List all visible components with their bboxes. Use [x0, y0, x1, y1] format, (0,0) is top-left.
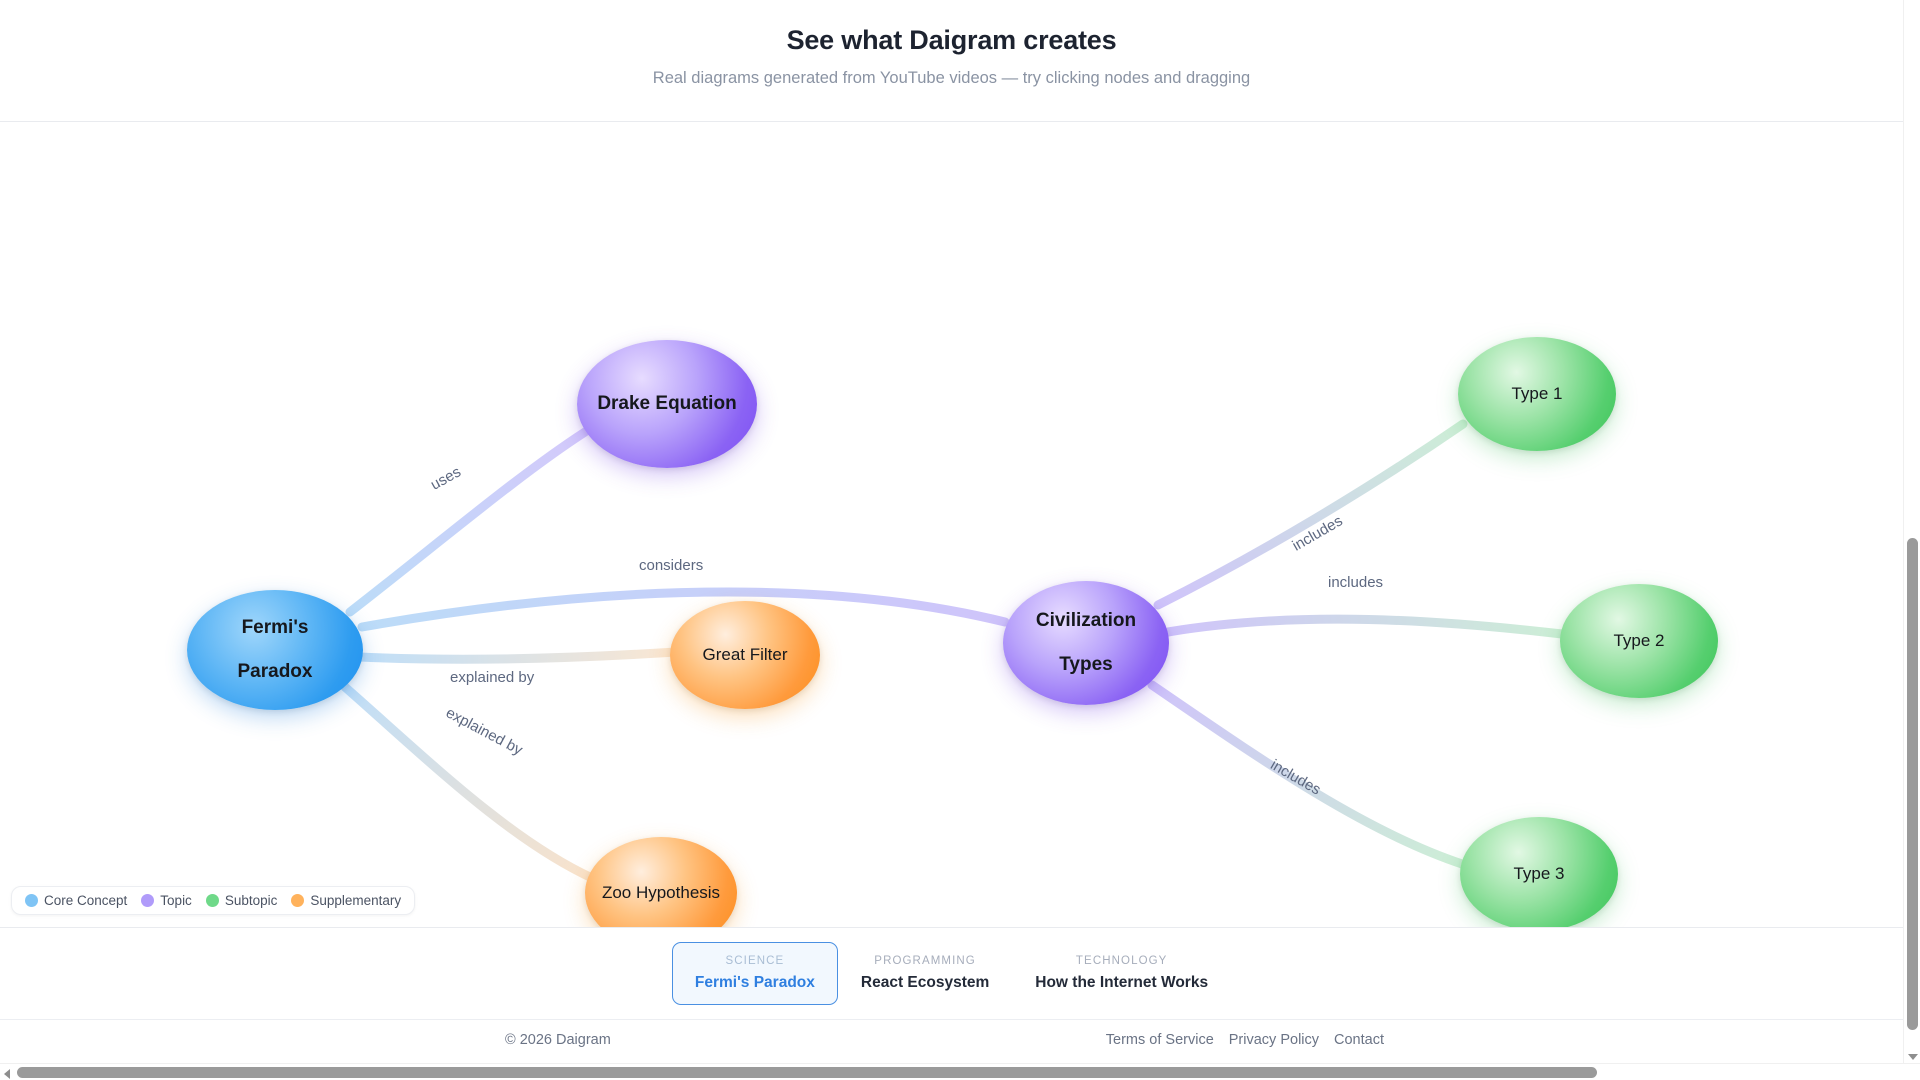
vertical-scrollbar-thumb[interactable] — [1907, 538, 1918, 1030]
page-title: See what Daigram creates — [0, 0, 1903, 56]
legend-label: Core Concept — [44, 893, 127, 908]
page-subtitle: Real diagrams generated from YouTube vid… — [0, 56, 1903, 88]
legend-dot-icon — [291, 894, 304, 907]
tab-title: Fermi's Paradox — [695, 974, 815, 992]
edge-explained-by-zoo — [345, 687, 592, 878]
tab-category: TECHNOLOGY — [1035, 955, 1208, 967]
footer-copyright: © 2026 Daigram — [505, 1032, 611, 1048]
diagram-canvas[interactable]: Fermi's Paradox Drake Equation Great Fil… — [0, 122, 1903, 927]
tab-how-the-internet-works[interactable]: TECHNOLOGY How the Internet Works — [1012, 942, 1231, 1005]
legend-item-core-concept: Core Concept — [25, 893, 127, 908]
legend-dot-icon — [25, 894, 38, 907]
node-label: Type 3 — [1513, 864, 1564, 884]
node-label: Type 1 — [1511, 384, 1562, 404]
legend-dot-icon — [206, 894, 219, 907]
scroll-down-arrow-icon[interactable] — [1908, 1054, 1918, 1060]
example-tabs: SCIENCE Fermi's Paradox PROGRAMMING Reac… — [0, 927, 1903, 1020]
edge-explained-by-great-filter — [360, 652, 676, 659]
tab-title: React Ecosystem — [861, 974, 989, 992]
graph-node-great-filter[interactable]: Great Filter — [670, 601, 820, 709]
horizontal-scrollbar[interactable] — [0, 1063, 1920, 1080]
scroll-left-arrow-icon[interactable] — [4, 1069, 10, 1079]
graph-node-type-1[interactable]: Type 1 — [1458, 337, 1616, 451]
graph-node-civilization-types[interactable]: Civilization Types — [1003, 581, 1169, 705]
edge-includes-type2 — [1168, 619, 1562, 634]
legend-label: Topic — [160, 893, 192, 908]
legend-label: Subtopic — [225, 893, 278, 908]
node-label: Drake Equation — [597, 393, 736, 415]
edge-considers — [362, 592, 1005, 627]
node-label-line1: Fermi's — [238, 617, 313, 639]
footer-links: Terms of Service Privacy Policy Contact — [1106, 1032, 1384, 1048]
graph-edges-layer — [0, 122, 1903, 927]
graph-legend: Core Concept Topic Subtopic Supplementar… — [11, 886, 415, 915]
tab-category: PROGRAMMING — [861, 955, 989, 967]
node-label-line2: Paradox — [238, 661, 313, 683]
page-footer: © 2026 Daigram Terms of Service Privacy … — [0, 1020, 1903, 1064]
edge-includes-type3 — [1152, 685, 1462, 864]
legend-item-topic: Topic — [141, 893, 192, 908]
tab-fermis-paradox[interactable]: SCIENCE Fermi's Paradox — [672, 942, 838, 1005]
page-root: See what Daigram creates Real diagrams g… — [0, 0, 1920, 1080]
legend-dot-icon — [141, 894, 154, 907]
footer-link-privacy-policy[interactable]: Privacy Policy — [1229, 1032, 1319, 1048]
legend-item-subtopic: Subtopic — [206, 893, 278, 908]
footer-link-contact[interactable]: Contact — [1334, 1032, 1384, 1048]
node-label: Zoo Hypothesis — [602, 883, 720, 903]
edge-includes-type1 — [1158, 424, 1463, 605]
node-label: Great Filter — [702, 645, 787, 665]
graph-node-fermi-paradox[interactable]: Fermi's Paradox — [187, 590, 363, 710]
graph-node-drake-equation[interactable]: Drake Equation — [577, 340, 757, 468]
tab-category: SCIENCE — [695, 955, 815, 967]
tab-react-ecosystem[interactable]: PROGRAMMING React Ecosystem — [838, 942, 1012, 1005]
legend-label: Supplementary — [310, 893, 401, 908]
node-label-line2: Types — [1036, 654, 1136, 676]
graph-node-type-2[interactable]: Type 2 — [1560, 584, 1718, 698]
edge-uses — [350, 432, 585, 612]
footer-link-terms-of-service[interactable]: Terms of Service — [1106, 1032, 1214, 1048]
page-header: See what Daigram creates Real diagrams g… — [0, 0, 1903, 122]
legend-item-supplementary: Supplementary — [291, 893, 401, 908]
tab-title: How the Internet Works — [1035, 974, 1208, 992]
horizontal-scrollbar-thumb[interactable] — [17, 1067, 1597, 1078]
node-label-line1: Civilization — [1036, 610, 1136, 632]
graph-node-type-3[interactable]: Type 3 — [1460, 817, 1618, 927]
node-label: Type 2 — [1613, 631, 1664, 651]
vertical-scrollbar[interactable] — [1903, 0, 1920, 1063]
